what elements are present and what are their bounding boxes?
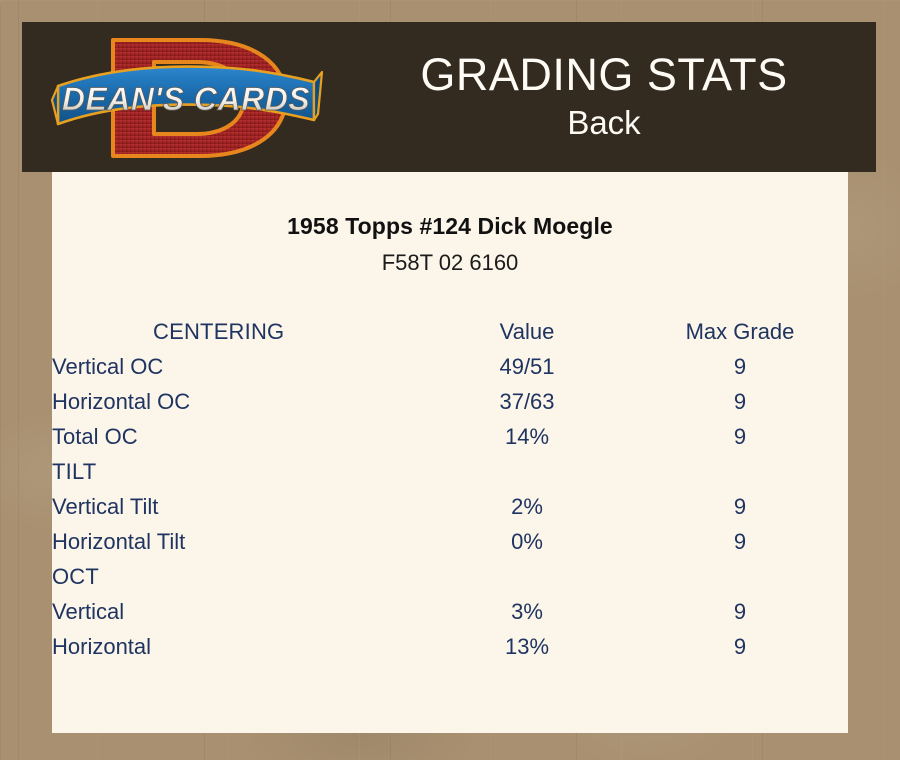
- stats-row-value: 3%: [422, 594, 632, 629]
- stats-row-label: Vertical: [52, 594, 422, 629]
- page-title: GRADING STATS: [420, 51, 787, 99]
- column-header-value: Value: [422, 314, 632, 349]
- stats-row: Horizontal OC37/639: [52, 384, 848, 419]
- content-panel: 1958 Topps #124 Dick Moegle F58T 02 6160…: [52, 172, 848, 733]
- stats-row-value: 37/63: [422, 384, 632, 419]
- card-code: F58T 02 6160: [52, 250, 848, 276]
- stats-row: Vertical3%9: [52, 594, 848, 629]
- stats-row-label: Horizontal: [52, 629, 422, 664]
- stats-row-max-grade: 9: [632, 524, 848, 559]
- stats-group-spacer: [422, 559, 632, 594]
- stats-row-value: 49/51: [422, 349, 632, 384]
- page-subtitle: Back: [567, 102, 640, 143]
- logo-banner-text: DEAN'S CARDS: [62, 81, 310, 117]
- stats-row: Horizontal13%9: [52, 629, 848, 664]
- stats-group-spacer: [632, 559, 848, 594]
- deans-cards-logo[interactable]: DEAN'S CARDS: [50, 28, 325, 168]
- stats-row-label: Horizontal OC: [52, 384, 422, 419]
- stats-row-label: Total OC: [52, 419, 422, 454]
- stats-row: Vertical Tilt2%9: [52, 489, 848, 524]
- stats-row-max-grade: 9: [632, 349, 848, 384]
- stats-row-max-grade: 9: [632, 629, 848, 664]
- stats-row-max-grade: 9: [632, 594, 848, 629]
- stats-group-spacer: [632, 454, 848, 489]
- stats-table-head: CENTERING Value Max Grade: [52, 314, 848, 349]
- stats-row-label: Vertical OC: [52, 349, 422, 384]
- stats-header-row: CENTERING Value Max Grade: [52, 314, 848, 349]
- stats-row-value: 2%: [422, 489, 632, 524]
- logo-banner: DEAN'S CARDS: [52, 67, 322, 124]
- stats-row-value: 13%: [422, 629, 632, 664]
- header-bar: DEAN'S CARDS GRADING STATS Back: [22, 22, 876, 172]
- stats-table-body: Vertical OC49/519Horizontal OC37/639Tota…: [52, 349, 848, 664]
- stats-group-spacer: [422, 454, 632, 489]
- column-header-max-grade: Max Grade: [632, 314, 848, 349]
- stats-row-label: Vertical Tilt: [52, 489, 422, 524]
- stats-row-max-grade: 9: [632, 419, 848, 454]
- stats-group-row: OCT: [52, 559, 848, 594]
- column-header-group: CENTERING: [52, 314, 422, 349]
- header-title-block: GRADING STATS Back: [332, 22, 876, 172]
- stats-group-row: TILT: [52, 454, 848, 489]
- card-title: 1958 Topps #124 Dick Moegle: [52, 213, 848, 240]
- grading-stats-table: CENTERING Value Max Grade Vertical OC49/…: [52, 314, 848, 664]
- stats-group-label: TILT: [52, 454, 422, 489]
- stats-row-max-grade: 9: [632, 489, 848, 524]
- stats-row: Horizontal Tilt0%9: [52, 524, 848, 559]
- stats-row-label: Horizontal Tilt: [52, 524, 422, 559]
- stats-row-value: 0%: [422, 524, 632, 559]
- stats-group-label: OCT: [52, 559, 422, 594]
- stats-row: Total OC14%9: [52, 419, 848, 454]
- stats-row: Vertical OC49/519: [52, 349, 848, 384]
- stats-row-max-grade: 9: [632, 384, 848, 419]
- stats-row-value: 14%: [422, 419, 632, 454]
